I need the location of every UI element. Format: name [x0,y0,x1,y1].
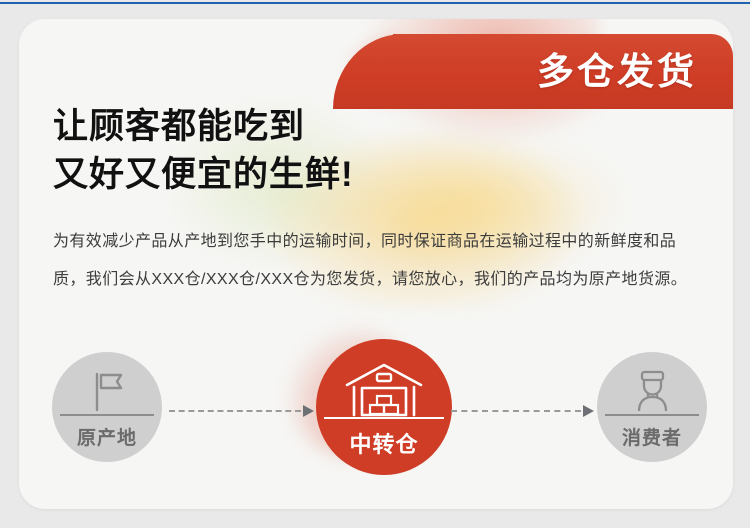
arrow-head-icon [303,405,314,417]
flow-node-consumer-label: 消费者 [597,423,707,450]
ground-line [324,417,444,419]
description-paragraph: 为有效减少产品从产地到您手中的运输时间，同时保证商品在运输过程中的新鲜度和品质，… [53,223,703,299]
dashed-line [451,410,581,412]
flag-icon [52,368,162,412]
ground-line [60,414,154,416]
flow-connector-origin-to-hub [169,405,324,417]
page-title: 让顾客都能吃到 又好又便宜的生鲜! [53,103,354,199]
flow-node-origin-label: 原产地 [52,423,162,450]
flow-node-origin: 原产地 [52,352,162,462]
top-accent-rule [0,2,750,4]
warehouse-icon [316,361,452,417]
ground-line [605,414,699,416]
flow-node-consumer: 消费者 [597,352,707,462]
flow-connector-hub-to-consumer [451,405,606,417]
headline-line-2: 又好又便宜的生鲜! [53,151,354,199]
person-icon [597,368,707,412]
flow-node-hub: 中转仓 [316,339,452,475]
dashed-line [169,410,301,412]
headline-line-1: 让顾客都能吃到 [53,103,354,151]
promo-card: 多仓发货 让顾客都能吃到 又好又便宜的生鲜! 为有效减少产品从产地到您手中的运输… [19,19,733,509]
flow-node-hub-label: 中转仓 [316,427,452,459]
ribbon-label: 多仓发货 [537,34,697,109]
arrow-head-icon [583,405,594,417]
supply-chain-flow: 原产地 中转仓 [19,339,733,479]
